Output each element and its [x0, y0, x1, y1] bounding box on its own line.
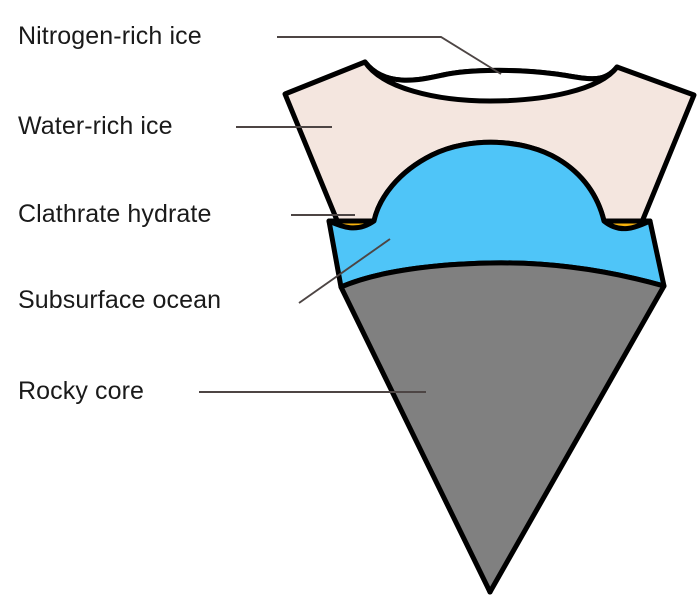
label-rocky-core: Rocky core — [18, 379, 144, 404]
label-subsurface-ocean: Subsurface ocean — [18, 288, 221, 313]
wedge-body — [285, 62, 694, 592]
label-nitrogen-rich-ice: Nitrogen-rich ice — [18, 24, 202, 49]
label-water-rich-ice: Water-rich ice — [18, 114, 173, 139]
diagram-canvas: Nitrogen-rich ice Water-rich ice Clathra… — [0, 0, 700, 606]
leader-line-nitrogen — [277, 37, 501, 74]
layer-rocky-core — [341, 263, 664, 592]
label-clathrate-hydrate: Clathrate hydrate — [18, 202, 211, 227]
